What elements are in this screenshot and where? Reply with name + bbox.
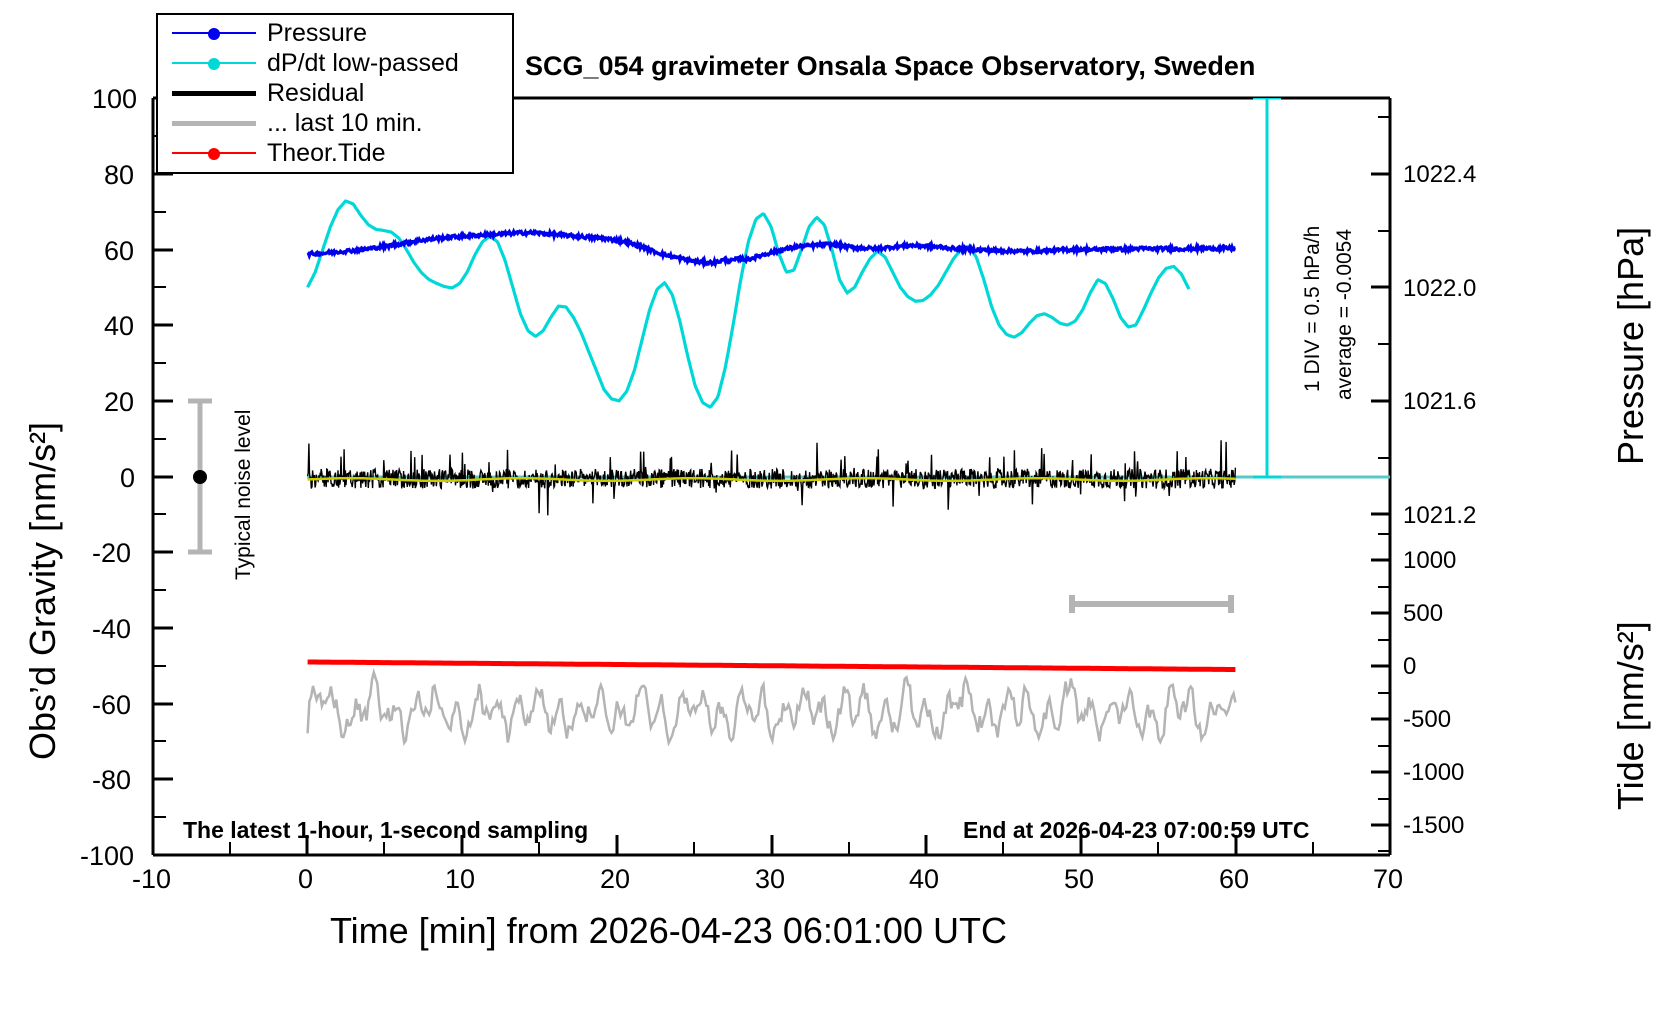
typical-noise-level-bar xyxy=(188,401,212,552)
ytick-left-4: 20 xyxy=(104,387,134,418)
ytick-right-tide-4: -1000 xyxy=(1403,759,1464,787)
xtick-2: 10 xyxy=(445,864,475,895)
ytick-left-3: 40 xyxy=(104,311,134,342)
pressure-scale-div-label: 1 DIV = 0.5 hPa/h xyxy=(1301,226,1325,392)
series-last-10-min xyxy=(308,672,1236,742)
ytick-right-tide-5: -1500 xyxy=(1403,812,1464,840)
legend-marker-dot xyxy=(208,58,220,70)
footer-right: End at 2026-04-23 07:00:59 UTC xyxy=(963,817,1309,844)
legend-swatch xyxy=(172,152,256,154)
y-axis-ticks-right xyxy=(1371,174,1390,825)
series-pressure xyxy=(308,231,1236,264)
series-dpdt-lowpassed xyxy=(308,201,1189,407)
ytick-right-pressure-2: 1021.6 xyxy=(1403,388,1476,416)
ytick-right-tide-1: 500 xyxy=(1403,600,1443,628)
xtick-1: 0 xyxy=(298,864,313,895)
legend: PressuredP/dt low-passedResidual... last… xyxy=(156,13,514,174)
legend-label: ... last 10 min. xyxy=(267,109,423,138)
ytick-right-pressure-1: 1022.0 xyxy=(1403,275,1476,303)
series-theor-tide xyxy=(308,662,1236,670)
xtick-3: 20 xyxy=(600,864,630,895)
ytick-left-10: -100 xyxy=(80,841,134,872)
ytick-right-tide-2: 0 xyxy=(1403,653,1416,681)
legend-swatch xyxy=(172,62,256,64)
xtick-6: 50 xyxy=(1064,864,1094,895)
ytick-left-9: -80 xyxy=(92,765,131,796)
footer-left: The latest 1-hour, 1-second sampling xyxy=(183,817,588,844)
ytick-left-1: 80 xyxy=(104,160,134,191)
last-10min-bar xyxy=(1072,595,1231,613)
ytick-right-pressure-0: 1022.4 xyxy=(1403,161,1476,189)
ytick-left-6: -20 xyxy=(92,538,131,569)
xtick-4: 30 xyxy=(755,864,785,895)
typical-noise-level-label: Typical noise level xyxy=(232,410,256,580)
legend-item: dP/dt low-passed xyxy=(158,48,512,78)
ytick-left-0: 100 xyxy=(92,84,137,115)
ytick-right-pressure-3: 1021.2 xyxy=(1403,502,1476,530)
legend-item: ... last 10 min. xyxy=(158,108,512,138)
xtick-8: 70 xyxy=(1373,864,1403,895)
ytick-left-5: 0 xyxy=(120,463,135,494)
legend-item: Residual xyxy=(158,78,512,108)
legend-swatch xyxy=(172,91,256,96)
xtick-7: 60 xyxy=(1219,864,1249,895)
ytick-right-tide-0: 1000 xyxy=(1403,547,1456,575)
pressure-scale-average-label: average = -0.0054 xyxy=(1333,229,1357,400)
legend-label: dP/dt low-passed xyxy=(267,49,459,78)
legend-item: Theor.Tide xyxy=(158,138,512,168)
legend-marker-dot xyxy=(208,148,220,160)
ytick-left-2: 60 xyxy=(104,236,134,267)
pressure-scale-bar xyxy=(1253,98,1281,477)
y-axis-minor-ticks-right xyxy=(1378,117,1390,851)
legend-label: Pressure xyxy=(267,19,367,48)
legend-swatch xyxy=(172,32,256,34)
xtick-0: -10 xyxy=(132,864,171,895)
legend-label: Theor.Tide xyxy=(267,139,386,168)
ytick-left-8: -60 xyxy=(92,690,131,721)
legend-label: Residual xyxy=(267,79,364,108)
legend-swatch xyxy=(172,121,256,126)
xtick-5: 40 xyxy=(909,864,939,895)
ytick-left-7: -40 xyxy=(92,614,131,645)
legend-item: Pressure xyxy=(158,18,512,48)
legend-marker-dot xyxy=(208,28,220,40)
ytick-right-tide-3: -500 xyxy=(1403,706,1451,734)
